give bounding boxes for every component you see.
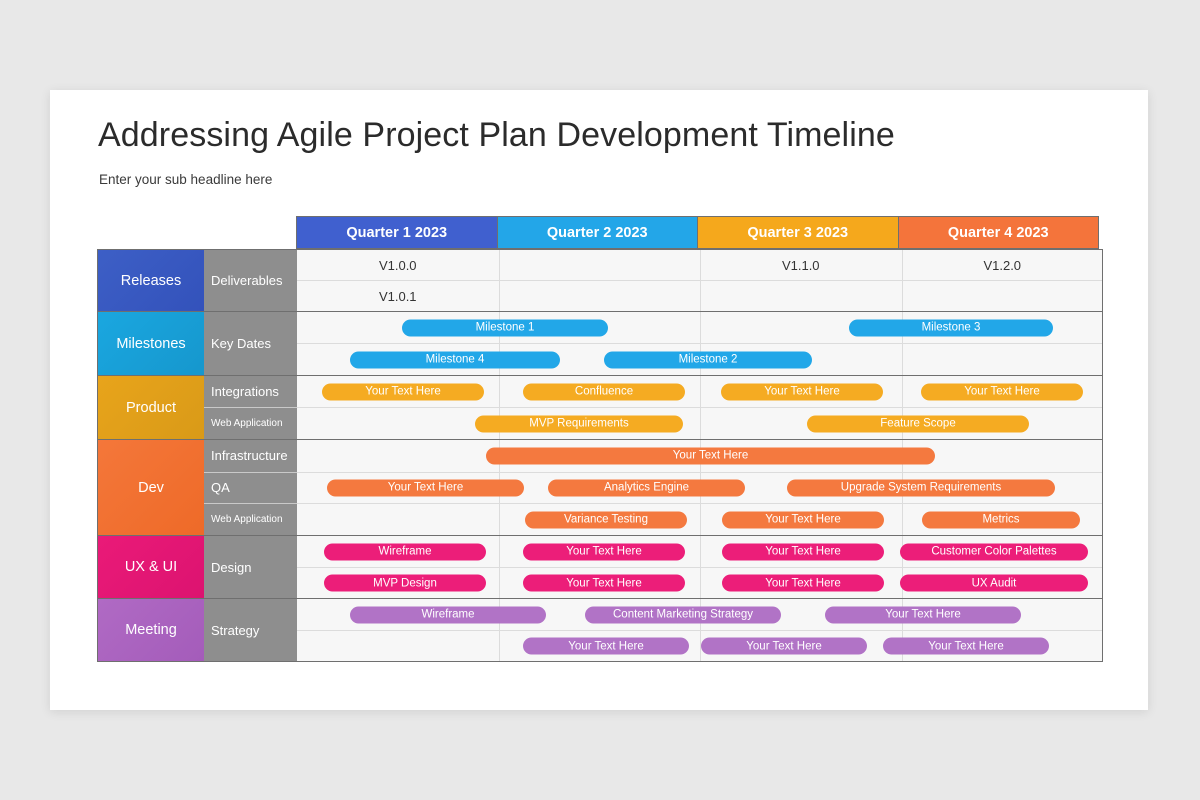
version-label: V1.0.1	[297, 281, 499, 311]
timeline-bar-label: Confluence	[575, 386, 633, 398]
quarter-divider	[902, 344, 903, 375]
timeline-row: Your Text HereAnalytics EngineUpgrade Sy…	[297, 472, 1102, 504]
timeline-bar-label: Your Text Here	[746, 640, 821, 652]
category-label: Meeting	[125, 622, 177, 638]
quarter-divider	[700, 281, 701, 311]
timeline-row: Milestone 1Milestone 3	[297, 312, 1102, 343]
quarter-divider	[499, 568, 500, 598]
timeline-bar[interactable]: Your Text Here	[523, 575, 685, 592]
category-cell[interactable]: Dev	[98, 440, 204, 535]
version-label: V1.2.0	[902, 250, 1104, 280]
timeline-rows: WireframeContent Marketing StrategyYour …	[297, 599, 1102, 661]
timeline-group-milestones: MilestonesKey DatesMilestone 1Milestone …	[98, 311, 1102, 375]
sublabel-text: Infrastructure	[211, 448, 288, 463]
category-label: UX & UI	[125, 559, 177, 575]
timeline-table: Quarter 1 2023Quarter 2 2023Quarter 3 20…	[97, 216, 1103, 662]
category-label: Product	[126, 400, 176, 416]
quarter-divider	[700, 568, 701, 598]
timeline-row: MVP RequirementsFeature Scope	[297, 407, 1102, 439]
timeline-bar-label: Your Text Here	[673, 450, 748, 462]
timeline-bar-label: Your Text Here	[765, 514, 840, 526]
timeline-bar[interactable]: UX Audit	[900, 575, 1088, 592]
timeline-rows: V1.0.0V1.1.0V1.2.0V1.0.1	[297, 250, 1102, 311]
timeline-rows: Your Text HereConfluenceYour Text HereYo…	[297, 376, 1102, 439]
timeline-bar-label: Milestone 2	[679, 354, 738, 366]
timeline-rows: WireframeYour Text HereYour Text HereCus…	[297, 536, 1102, 598]
timeline-bar[interactable]: Your Text Here	[883, 638, 1049, 655]
timeline-bar[interactable]: Upgrade System Requirements	[787, 479, 1055, 496]
timeline-row: Your Text HereConfluenceYour Text HereYo…	[297, 376, 1102, 407]
version-label: V1.1.0	[700, 250, 902, 280]
timeline-bar[interactable]: Confluence	[523, 383, 685, 400]
quarter-divider	[499, 536, 500, 567]
sublabel-text: Strategy	[211, 623, 259, 638]
timeline-bar-label: Your Text Here	[765, 577, 840, 589]
quarter-header-1[interactable]: Quarter 1 2023	[296, 216, 498, 249]
timeline-bar[interactable]: MVP Design	[324, 575, 486, 592]
timeline-bar-label: Feature Scope	[880, 418, 955, 430]
timeline-bar[interactable]: Your Text Here	[322, 383, 484, 400]
timeline-bar[interactable]: Metrics	[922, 511, 1080, 528]
category-cell[interactable]: UX & UI	[98, 536, 204, 598]
timeline-bar[interactable]: Milestone 4	[350, 351, 560, 368]
sublabel-cell[interactable]: Infrastructure	[204, 440, 297, 472]
timeline-bar[interactable]: Your Text Here	[486, 447, 935, 464]
timeline-bar[interactable]: Your Text Here	[722, 511, 884, 528]
timeline-bar-label: Upgrade System Requirements	[841, 482, 1001, 494]
timeline-row: Your Text Here	[297, 440, 1102, 472]
quarter-header-label: Quarter 2 2023	[547, 225, 648, 241]
quarter-divider	[902, 376, 903, 407]
timeline-row: V1.0.1	[297, 280, 1102, 311]
timeline-bar[interactable]: Customer Color Palettes	[900, 543, 1088, 560]
quarter-divider	[700, 312, 701, 343]
category-cell[interactable]: Releases	[98, 250, 204, 311]
sublabel-text: Deliverables	[211, 273, 283, 288]
sublabel-cell[interactable]: Strategy	[204, 599, 297, 661]
timeline-bar[interactable]: Wireframe	[324, 543, 486, 560]
timeline-header-row: Quarter 1 2023Quarter 2 2023Quarter 3 20…	[97, 216, 1103, 249]
sublabel-cell[interactable]: Web Application	[204, 503, 297, 535]
timeline-bar-label: Your Text Here	[566, 577, 641, 589]
sublabel-cell[interactable]: Web Application	[204, 407, 297, 439]
sublabel-text: Key Dates	[211, 336, 271, 351]
timeline-group-dev: DevInfrastructureQAWeb ApplicationYour T…	[98, 439, 1102, 535]
timeline-bar-label: Your Text Here	[365, 386, 440, 398]
quarter-header-label: Quarter 1 2023	[346, 225, 447, 241]
timeline-bar-label: Milestone 1	[476, 322, 535, 334]
timeline-bar-label: Wireframe	[421, 609, 474, 621]
quarter-divider	[700, 536, 701, 567]
sublabel-column: IntegrationsWeb Application	[204, 376, 297, 439]
timeline-bar[interactable]: Your Text Here	[825, 606, 1021, 623]
timeline-group-meeting: MeetingStrategyWireframeContent Marketin…	[98, 598, 1102, 661]
timeline-bar-label: Your Text Here	[765, 546, 840, 558]
quarter-divider	[499, 631, 500, 661]
timeline-bar[interactable]: Your Text Here	[327, 479, 524, 496]
timeline-bar[interactable]: Feature Scope	[807, 415, 1029, 432]
timeline-row: Milestone 4Milestone 2	[297, 343, 1102, 375]
timeline-bar-label: Milestone 3	[922, 322, 981, 334]
timeline-bar-label: Content Marketing Strategy	[613, 609, 753, 621]
timeline-bar[interactable]: Content Marketing Strategy	[585, 606, 781, 623]
timeline-row: WireframeContent Marketing StrategyYour …	[297, 599, 1102, 630]
timeline-bar[interactable]: Your Text Here	[721, 383, 883, 400]
sublabel-column: InfrastructureQAWeb Application	[204, 440, 297, 535]
quarter-divider	[902, 281, 903, 311]
timeline-bar-label: Your Text Here	[964, 386, 1039, 398]
timeline-bar-label: MVP Requirements	[529, 418, 629, 430]
quarter-header-4[interactable]: Quarter 4 2023	[898, 216, 1100, 249]
sublabel-column: Strategy	[204, 599, 297, 661]
sublabel-cell[interactable]: Key Dates	[204, 312, 297, 375]
slide-card: Addressing Agile Project Plan Developmen…	[50, 90, 1148, 710]
category-label: Releases	[121, 273, 181, 289]
timeline-bar[interactable]: Your Text Here	[722, 575, 884, 592]
timeline-bar[interactable]: MVP Requirements	[475, 415, 683, 432]
timeline-group-ux-ui: UX & UIDesignWireframeYour Text HereYour…	[98, 535, 1102, 598]
timeline-bar-label: Your Text Here	[885, 609, 960, 621]
timeline-bar[interactable]: Wireframe	[350, 606, 546, 623]
timeline-bar[interactable]: Variance Testing	[525, 511, 687, 528]
sublabel-cell[interactable]: Design	[204, 536, 297, 598]
category-cell[interactable]: Product	[98, 376, 204, 439]
sublabel-cell[interactable]: Deliverables	[204, 250, 297, 311]
timeline-bar-label: Your Text Here	[928, 640, 1003, 652]
category-label: Dev	[138, 480, 164, 496]
page-title: Addressing Agile Project Plan Developmen…	[98, 116, 895, 155]
timeline-body: ReleasesDeliverablesV1.0.0V1.1.0V1.2.0V1…	[97, 249, 1103, 662]
quarter-header-2[interactable]: Quarter 2 2023	[497, 216, 699, 249]
timeline-bar-label: Metrics	[982, 514, 1019, 526]
timeline-group-releases: ReleasesDeliverablesV1.0.0V1.1.0V1.2.0V1…	[98, 249, 1102, 311]
category-label: Milestones	[116, 336, 185, 352]
timeline-bar-label: Analytics Engine	[604, 482, 689, 494]
category-cell[interactable]: Milestones	[98, 312, 204, 375]
sublabel-text: QA	[211, 480, 230, 495]
timeline-row: MVP DesignYour Text HereYour Text HereUX…	[297, 567, 1102, 598]
quarter-divider	[902, 504, 903, 535]
timeline-bar-label: Your Text Here	[388, 482, 463, 494]
timeline-bar[interactable]: Analytics Engine	[548, 479, 745, 496]
timeline-bar[interactable]: Your Text Here	[722, 543, 884, 560]
timeline-bar-label: Variance Testing	[564, 514, 648, 526]
category-cell[interactable]: Meeting	[98, 599, 204, 661]
quarter-divider	[700, 408, 701, 439]
quarter-divider	[700, 376, 701, 407]
quarter-divider	[499, 281, 500, 311]
timeline-row: V1.0.0V1.1.0V1.2.0	[297, 250, 1102, 280]
timeline-bar[interactable]: Your Text Here	[523, 638, 689, 655]
timeline-row: Your Text HereYour Text HereYour Text He…	[297, 630, 1102, 661]
sublabel-column: Deliverables	[204, 250, 297, 311]
timeline-bar-label: Your Text Here	[566, 546, 641, 558]
sublabel-text: Web Application	[211, 514, 283, 525]
timeline-bar-label: MVP Design	[373, 577, 437, 589]
timeline-bar-label: UX Audit	[972, 577, 1017, 589]
sublabel-cell[interactable]: QA	[204, 472, 297, 504]
quarter-divider	[499, 504, 500, 535]
quarter-divider	[499, 376, 500, 407]
quarter-divider	[700, 504, 701, 535]
timeline-bar[interactable]: Milestone 1	[402, 319, 608, 336]
timeline-rows: Milestone 1Milestone 3Milestone 4Milesto…	[297, 312, 1102, 375]
quarter-divider	[499, 250, 500, 280]
header-spacer-sublabel	[203, 216, 296, 249]
quarter-header-3[interactable]: Quarter 3 2023	[697, 216, 899, 249]
sublabel-column: Key Dates	[204, 312, 297, 375]
header-spacer-category	[97, 216, 203, 249]
timeline-bar-label: Your Text Here	[568, 640, 643, 652]
timeline-row: Variance TestingYour Text HereMetrics	[297, 503, 1102, 535]
timeline-bar[interactable]: Milestone 3	[849, 319, 1053, 336]
timeline-bar[interactable]: Milestone 2	[604, 351, 812, 368]
quarter-header-group: Quarter 1 2023Quarter 2 2023Quarter 3 20…	[296, 216, 1103, 249]
sublabel-cell[interactable]: Integrations	[204, 376, 297, 407]
quarter-header-label: Quarter 3 2023	[747, 225, 848, 241]
sublabel-column: Design	[204, 536, 297, 598]
sublabel-text: Design	[211, 560, 251, 575]
timeline-bar-label: Wireframe	[378, 546, 431, 558]
timeline-group-product: ProductIntegrationsWeb ApplicationYour T…	[98, 375, 1102, 439]
timeline-row: WireframeYour Text HereYour Text HereCus…	[297, 536, 1102, 567]
timeline-bar[interactable]: Your Text Here	[701, 638, 867, 655]
timeline-bar-label: Your Text Here	[764, 386, 839, 398]
timeline-bar[interactable]: Your Text Here	[921, 383, 1083, 400]
timeline-bar[interactable]: Your Text Here	[523, 543, 685, 560]
version-label: V1.0.0	[297, 250, 499, 280]
timeline-bar-label: Milestone 4	[426, 354, 485, 366]
timeline-rows: Your Text HereYour Text HereAnalytics En…	[297, 440, 1102, 535]
sublabel-text: Integrations	[211, 384, 279, 399]
quarter-header-label: Quarter 4 2023	[948, 225, 1049, 241]
page-subtitle: Enter your sub headline here	[99, 172, 272, 187]
timeline-bar-label: Customer Color Palettes	[931, 546, 1056, 558]
sublabel-text: Web Application	[211, 418, 283, 429]
